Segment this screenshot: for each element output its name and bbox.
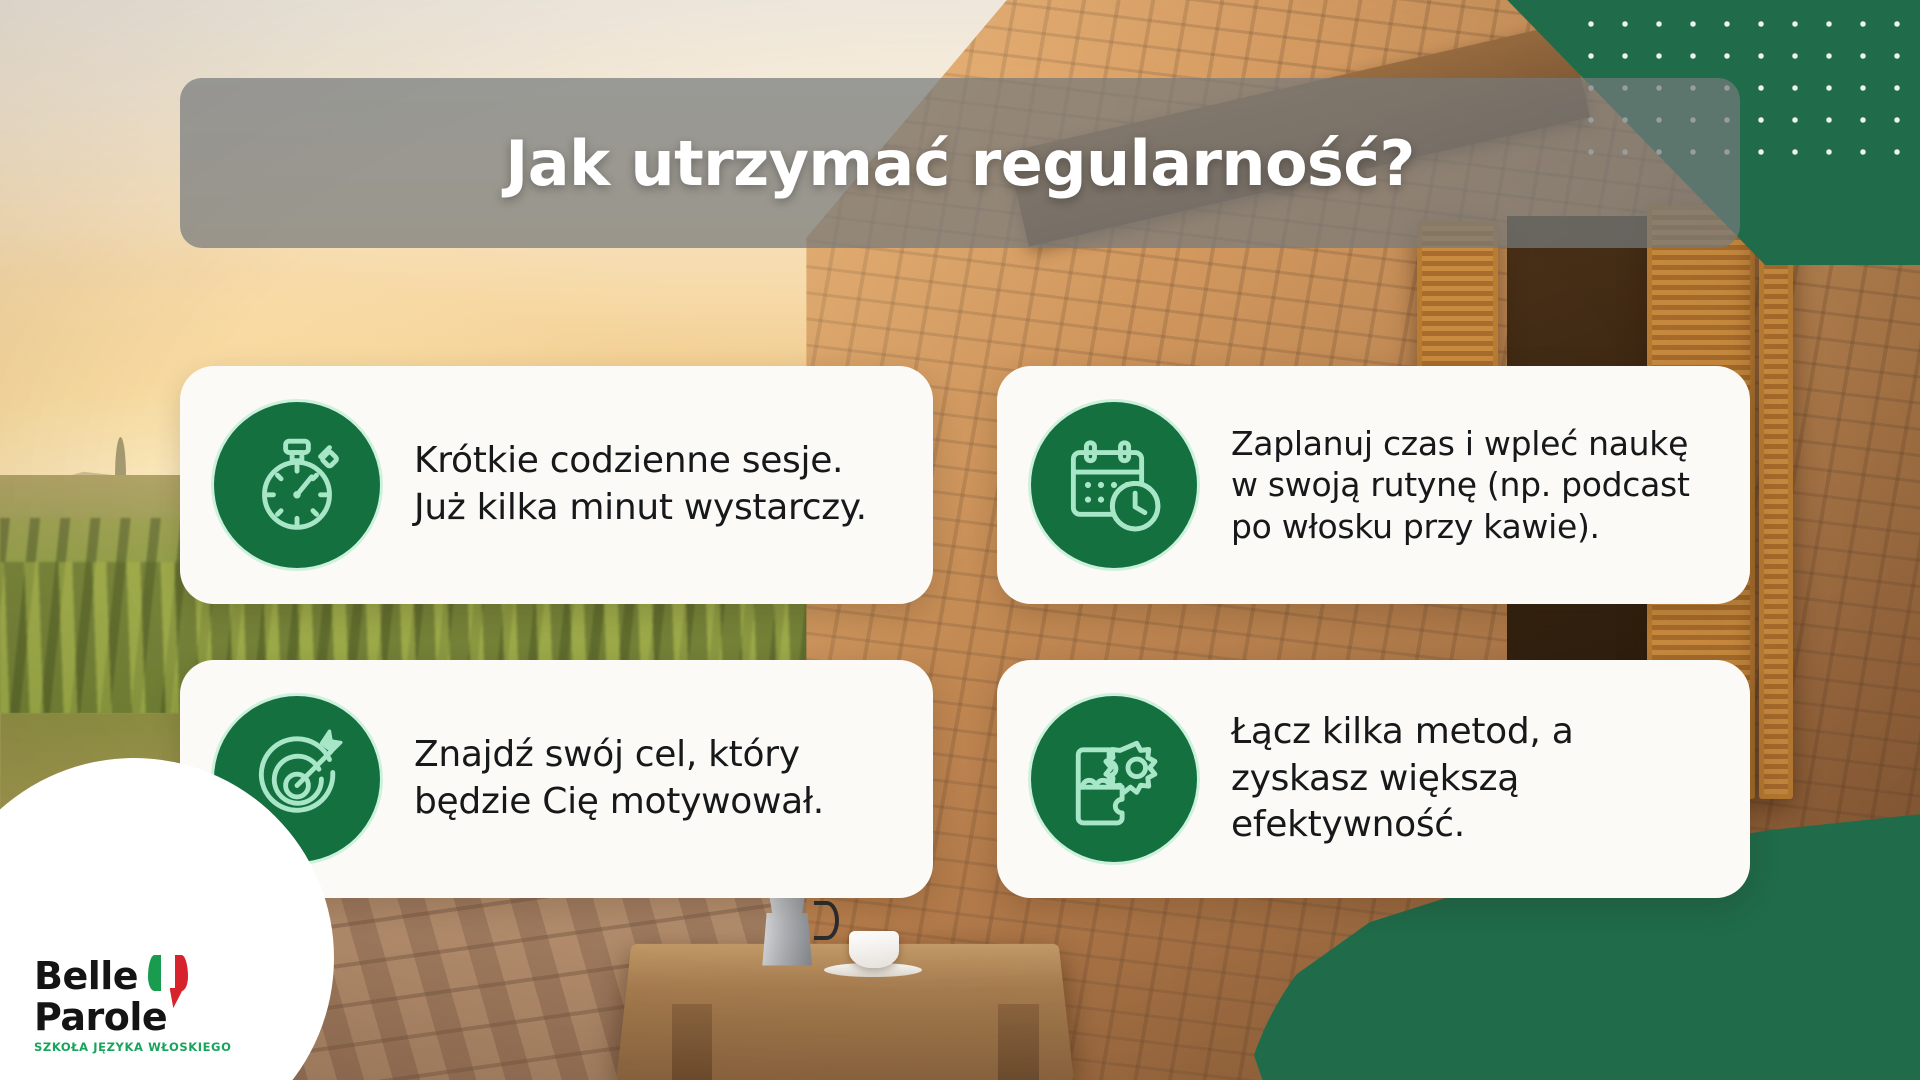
tip-card[interactable]: Zaplanuj czas i wpleć naukę w swoją ruty… <box>997 366 1750 604</box>
tip-card[interactable]: Łącz kilka metod, a zyskasz większą efek… <box>997 660 1750 898</box>
tip-card-text: Znajdź swój cel, który będzie Cię motywo… <box>414 732 899 826</box>
tip-card-text: Zaplanuj czas i wpleć naukę w swoją ruty… <box>1231 423 1716 548</box>
slide-canvas: Jak utrzymać regularność? Krótkie codzie… <box>0 0 1920 1080</box>
brand-logo[interactable]: Belle Parole SZKOŁA JĘZYKA WŁOSKIEGO <box>34 955 244 1054</box>
logo-tagline: SZKOŁA JĘZYKA WŁOSKIEGO <box>34 1040 244 1054</box>
title-banner: Jak utrzymać regularność? <box>180 78 1740 248</box>
stopwatch-icon <box>214 402 380 568</box>
italian-flag-speech-bubble-icon <box>148 955 188 999</box>
logo-word-parole: Parole <box>34 999 244 1035</box>
tip-card[interactable]: Krótkie codzienne sesje. Już kilka minut… <box>180 366 933 604</box>
tip-card-text: Krótkie codzienne sesje. Już kilka minut… <box>414 438 899 532</box>
page-title: Jak utrzymać regularność? <box>505 127 1415 200</box>
logo-word-belle: Belle <box>34 958 138 994</box>
tip-card-text: Łącz kilka metod, a zyskasz większą efek… <box>1231 709 1716 849</box>
tips-grid: Krótkie codzienne sesje. Już kilka minut… <box>180 366 1750 898</box>
calendar-clock-icon <box>1031 402 1197 568</box>
puzzle-gear-icon <box>1031 696 1197 862</box>
